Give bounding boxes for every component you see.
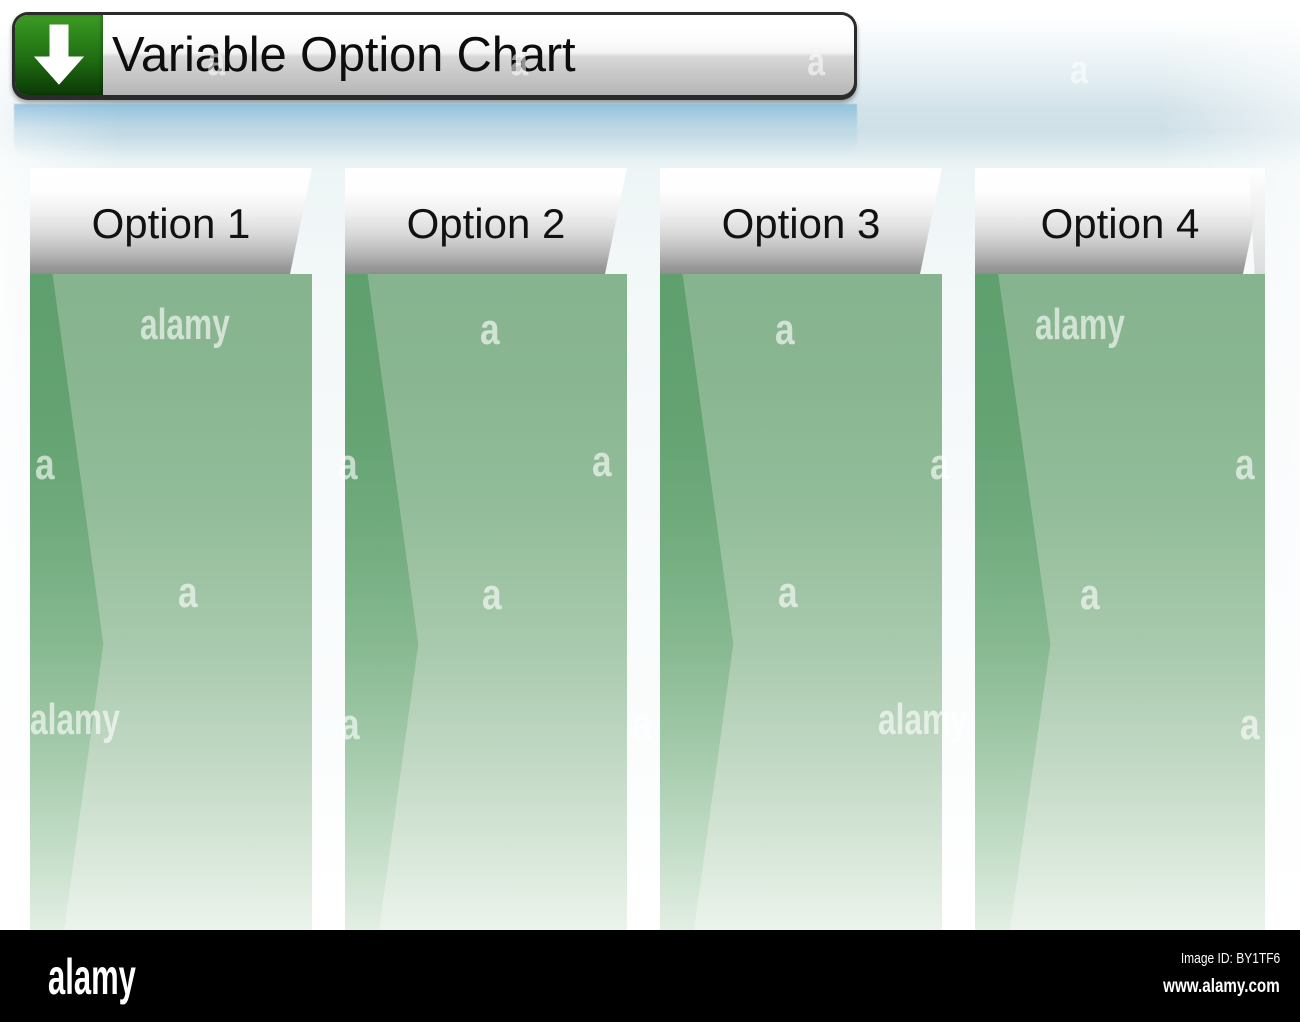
alamy-url-label[interactable]: www.alamy.com [1163,976,1280,998]
watermark-text: a [178,568,198,618]
watermark-text: a [1080,570,1100,620]
watermark-text: a [338,440,358,490]
watermark-text: alamy [878,695,968,745]
watermark-text: a [778,568,798,618]
watermark-text: a [480,305,500,355]
alamy-footer-bar: alamy Image ID: BY1TF6 www.alamy.com [0,930,1300,1022]
alamy-logo: alamy [48,948,136,1006]
watermark-text: a [632,700,652,750]
screenshot-root: aaaa Variable Option Chart Option 1Optio… [0,0,1300,1022]
watermark-text: a [482,570,502,620]
watermark-text: alamy [30,695,120,745]
watermark-text: a [1235,440,1255,490]
watermark-text: a [775,305,795,355]
watermark-text: a [592,437,612,487]
watermark-text: a [1240,700,1260,750]
watermark-text: alamy [1035,300,1125,350]
image-id-label: Image ID: BY1TF6 [1181,950,1280,967]
watermark-text: a [340,700,360,750]
watermark-layer: alamyaaalamyaaaaaaaaaalamyaaalamya [0,0,1300,930]
watermark-text: a [35,440,55,490]
watermark-text: a [930,440,950,490]
watermark-text: alamy [140,300,230,350]
